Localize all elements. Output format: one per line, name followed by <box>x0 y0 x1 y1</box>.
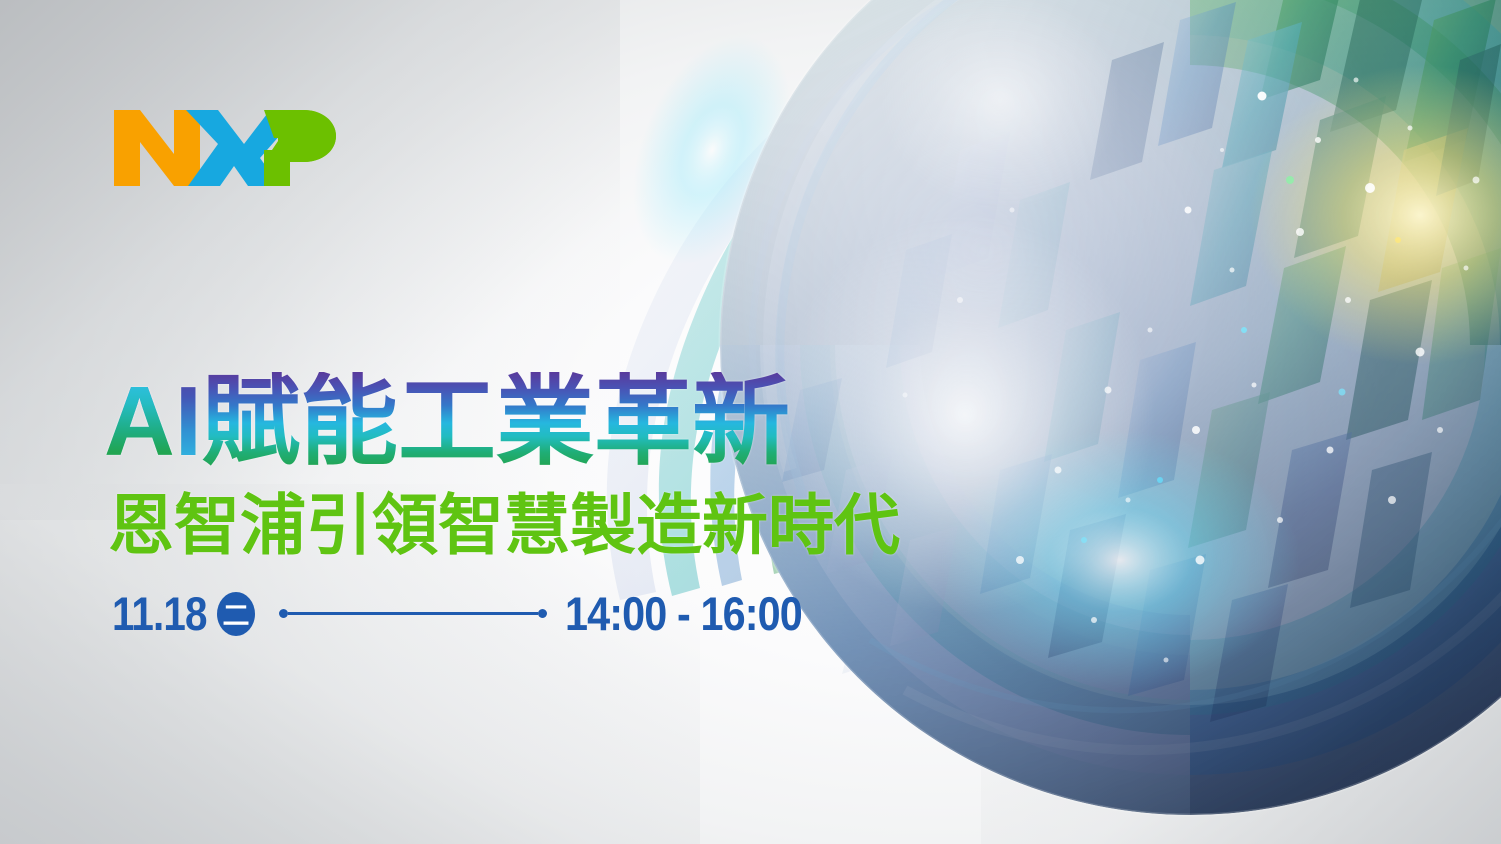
title-rest: 賦能工業革新 <box>202 366 790 476</box>
connector-line <box>288 612 538 615</box>
schedule-connector <box>279 609 547 618</box>
headline-block: AI賦能工業革新 恩智浦引領智慧製造新時代 11.18 二 14:00 - 16… <box>104 372 904 641</box>
page-title: AI賦能工業革新 <box>104 372 904 470</box>
nxp-logo[interactable] <box>114 110 336 186</box>
weekday-badge: 二 <box>217 592 255 636</box>
connector-dot-start <box>279 609 288 618</box>
connector-dot-end <box>538 609 547 618</box>
event-date: 11.18 <box>112 586 207 641</box>
nxp-logo-letter-n <box>114 110 200 186</box>
background-corner-bottom-right <box>981 514 1501 844</box>
title-lead-i: I <box>175 366 202 476</box>
event-time: 14:00 - 16:00 <box>565 586 802 641</box>
title-lead-a: A <box>104 366 175 476</box>
promo-banner: AI賦能工業革新 恩智浦引領智慧製造新時代 11.18 二 14:00 - 16… <box>0 0 1501 844</box>
event-schedule: 11.18 二 14:00 - 16:00 <box>112 586 904 641</box>
page-subtitle: 恩智浦引領智慧製造新時代 <box>108 492 904 558</box>
